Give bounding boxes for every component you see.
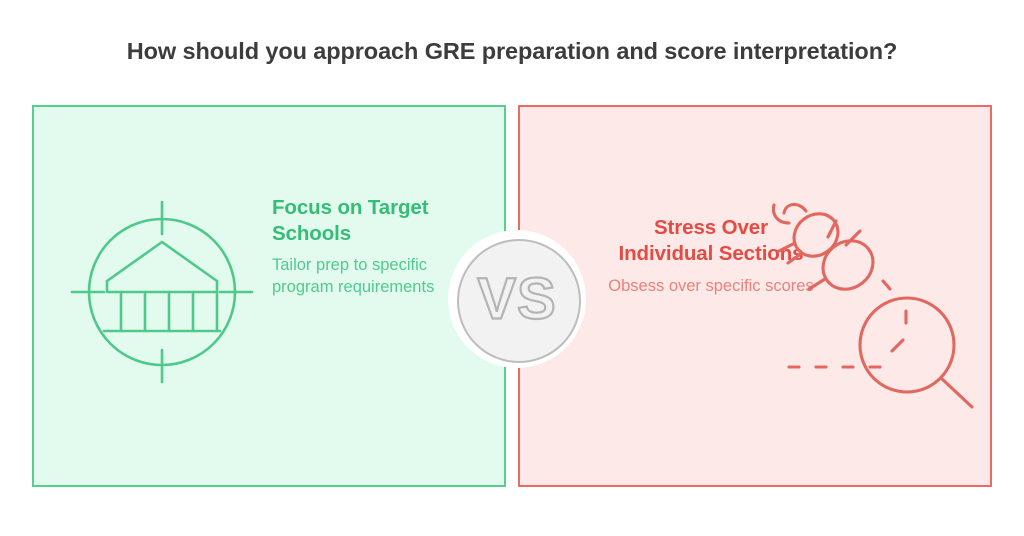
bug-magnifier-icon (772, 195, 984, 410)
left-panel-text: Focus on Target Schools Tailor prep to s… (272, 195, 477, 298)
magnifier-handle (941, 378, 972, 407)
comparison-infographic: How should you approach GRE preparation … (0, 0, 1024, 536)
trail-dash (883, 281, 890, 289)
vs-label: VS (448, 230, 586, 368)
page-title: How should you approach GRE preparation … (0, 36, 1024, 66)
building-entablature (107, 281, 217, 292)
vs-label-text: VS (477, 267, 556, 332)
left-comparison-panel: Focus on Target Schools Tailor prep to s… (32, 105, 506, 487)
bug-antenna-right (784, 204, 806, 213)
bug-leg (779, 243, 795, 251)
left-panel-body: Tailor prep to specific program requirem… (272, 254, 477, 298)
vs-divider-badge: VS (448, 230, 586, 368)
building-roof (107, 242, 217, 281)
bug-leg (809, 279, 825, 289)
right-comparison-panel: Stress Over Individual Sections Obsess o… (518, 105, 992, 487)
bug-leg (788, 253, 802, 263)
bug-head-segment (786, 205, 847, 265)
lens-mark (892, 340, 903, 351)
left-panel-heading: Focus on Target Schools (272, 195, 477, 246)
bug-leg (828, 221, 836, 237)
target-university-icon (62, 192, 262, 392)
